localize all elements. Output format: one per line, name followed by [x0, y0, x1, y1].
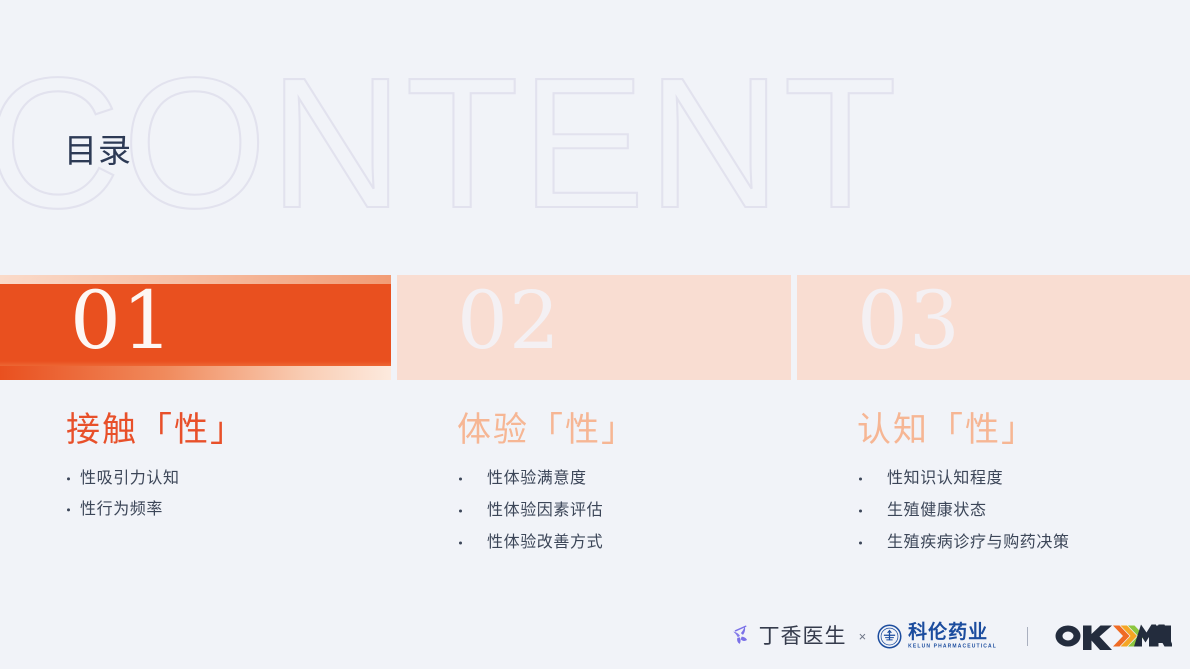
section-number-band-02: 02 [397, 275, 791, 380]
section-items-02: 性体验满意度 性体验因素评估 性体验改善方式 [459, 471, 791, 551]
section-number-01: 01 [70, 281, 174, 361]
section-number-band-03: 03 [797, 275, 1190, 380]
bullet-dot-icon [459, 478, 462, 481]
list-item-label: 性知识认知程度 [887, 470, 1003, 487]
section-heading-02: 体验「性」 [457, 413, 791, 447]
contents-watermark: CONTENTS [0, 52, 906, 252]
watermark-text: CONTENTS [0, 52, 906, 247]
kelun-name-cn: 科伦药业 [908, 623, 997, 642]
list-item-label: 性行为频率 [80, 501, 163, 518]
bullet-dot-icon [859, 478, 862, 481]
section-card-02[interactable]: 02 体验「性」 性体验满意度 性体验因素评估 性体验改善方式 [397, 275, 791, 567]
section-card-03[interactable]: 03 认知「性」 性知识认知程度 生殖健康状态 生殖疾病诊疗与购药决策 [797, 275, 1190, 567]
bullet-dot-icon [859, 542, 862, 545]
dxy-logo-text: 丁香医生 [759, 626, 847, 647]
bullet-dot-icon [67, 508, 70, 511]
section-card-01[interactable]: 01 接触「性」 性吸引力认知 性行为频率 [0, 275, 391, 533]
footer-logos: 丁香医生 × 科伦药业 KELUN PHARMACEUTICAL [728, 613, 1172, 659]
bullet-dot-icon [459, 542, 462, 545]
list-item[interactable]: 性体验因素评估 [459, 503, 791, 519]
bullet-dot-icon [859, 510, 862, 513]
sections-container: 01 接触「性」 性吸引力认知 性行为频率 02 体验「性」 性体验满意度 性体… [0, 275, 1190, 575]
section-heading-01: 接触「性」 [66, 413, 391, 447]
section-items-01: 性吸引力认知 性行为频率 [66, 471, 391, 518]
section-number-03: 03 [857, 281, 961, 361]
partner-lockup: 丁香医生 × 科伦药业 KELUN PHARMACEUTICAL [728, 623, 997, 649]
list-item[interactable]: 生殖疾病诊疗与购药决策 [859, 535, 1190, 551]
okman-logo [1054, 621, 1172, 651]
section-number-band-01: 01 [0, 275, 391, 380]
dxy-butterfly-icon [728, 623, 754, 649]
bullet-dot-icon [67, 477, 70, 480]
kelun-emblem-icon [877, 624, 902, 649]
list-item[interactable]: 生殖健康状态 [859, 503, 1190, 519]
list-item-label: 性吸引力认知 [80, 470, 180, 487]
page-title: 目录 [64, 131, 132, 171]
footer-divider [1027, 627, 1028, 646]
list-item[interactable]: 性知识认知程度 [859, 471, 1190, 487]
logo-cross-symbol: × [859, 630, 867, 643]
list-item-label: 生殖疾病诊疗与购药决策 [887, 534, 1070, 551]
dxy-logo: 丁香医生 [728, 623, 847, 649]
kelun-wordmark: 科伦药业 KELUN PHARMACEUTICAL [908, 623, 997, 649]
slide-root: CONTENTS 目录 01 接触「性」 性吸引力认知 性行为频率 02 体验「… [0, 0, 1190, 669]
list-item-label: 性体验满意度 [487, 470, 587, 487]
list-item-label: 生殖健康状态 [887, 502, 987, 519]
section-heading-03: 认知「性」 [857, 413, 1190, 447]
list-item[interactable]: 性体验满意度 [459, 471, 791, 487]
list-item[interactable]: 性体验改善方式 [459, 535, 791, 551]
section-number-02: 02 [457, 281, 561, 361]
kelun-name-en: KELUN PHARMACEUTICAL [908, 644, 997, 650]
list-item[interactable]: 性行为频率 [66, 502, 391, 518]
section-items-03: 性知识认知程度 生殖健康状态 生殖疾病诊疗与购药决策 [859, 471, 1190, 551]
list-item-label: 性体验改善方式 [487, 534, 603, 551]
bullet-dot-icon [459, 510, 462, 513]
kelun-logo: 科伦药业 KELUN PHARMACEUTICAL [877, 623, 997, 649]
list-item-label: 性体验因素评估 [487, 502, 603, 519]
list-item[interactable]: 性吸引力认知 [66, 471, 391, 487]
